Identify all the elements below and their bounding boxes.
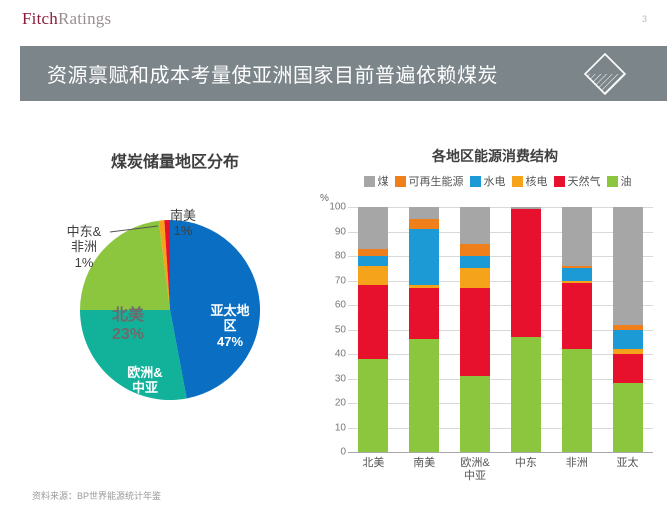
bar-segment — [358, 285, 388, 359]
bar-slot — [602, 207, 653, 452]
legend-swatch-icon — [512, 176, 523, 187]
slide: FitchRatings 3 资源禀赋和成本考量使亚洲国家目前普遍依赖煤炭 煤炭… — [0, 0, 667, 513]
bar-slot — [551, 207, 602, 452]
x-tick-label: 南美 — [399, 457, 450, 482]
top-bar: FitchRatings 3 — [0, 0, 667, 40]
pie-label-ap-pct: 47% — [217, 334, 243, 349]
legend-label: 水电 — [484, 173, 506, 189]
bar-chart-title: 各地区能源消费结构 — [380, 146, 610, 166]
bar-segment — [613, 354, 643, 383]
y-tick-label: 0 — [322, 447, 346, 458]
bar-segment — [409, 229, 439, 285]
y-tick-label: 10 — [322, 422, 346, 433]
pie-label-north-america-name: 北美 — [112, 307, 144, 324]
y-tick-label: 20 — [322, 398, 346, 409]
legend-swatch-icon — [554, 176, 565, 187]
y-tick-label: 60 — [322, 300, 346, 311]
diamond-hatched-icon — [583, 52, 627, 96]
pie-label-me-pct: 1% — [75, 255, 94, 270]
x-tick-label: 欧洲&中亚 — [450, 457, 501, 482]
stacked-bar[interactable] — [511, 207, 541, 452]
legend-item-3[interactable]: 核电 — [512, 173, 548, 189]
bar-segment — [409, 339, 439, 452]
legend-item-4[interactable]: 天然气 — [554, 173, 601, 189]
legend-swatch-icon — [364, 176, 375, 187]
bar-chart-legend: 煤可再生能源水电核电天然气油 — [328, 173, 667, 189]
pie-label-south-america-pct: 1% — [174, 223, 193, 238]
bar-slot — [500, 207, 551, 452]
stacked-bar[interactable] — [409, 207, 439, 452]
bar-segment — [511, 209, 541, 336]
bar-segment — [460, 376, 490, 452]
bar-slot — [348, 207, 399, 452]
bar-segment — [460, 207, 490, 244]
bar-slot — [399, 207, 450, 452]
bar-segment — [460, 268, 490, 288]
stacked-bar[interactable] — [562, 207, 592, 452]
pie-label-south-america-name: 南美 — [170, 208, 196, 223]
pie-label-eca-pct: 28% — [132, 396, 158, 411]
x-tick-label: 亚太 — [602, 457, 653, 482]
pie-label-me-line2: 非洲 — [71, 239, 97, 254]
y-tick-label: 90 — [322, 226, 346, 237]
source-note: 资料来源：BP世界能源统计年鉴 — [32, 489, 161, 502]
bar-segment — [358, 256, 388, 266]
bar-segment — [409, 219, 439, 229]
legend-swatch-icon — [395, 176, 406, 187]
bar-slot — [450, 207, 501, 452]
legend-item-1[interactable]: 可再生能源 — [395, 173, 464, 189]
y-axis: 0102030405060708090100 — [322, 207, 346, 452]
page-number: 3 — [642, 14, 647, 24]
logo-fitch: Fitch — [22, 9, 58, 28]
bar-segment — [613, 383, 643, 452]
pie-label-me-line1: 中东& — [67, 224, 102, 239]
legend-swatch-icon — [607, 176, 618, 187]
x-tick-label: 非洲 — [551, 457, 602, 482]
bar-segment — [409, 288, 439, 339]
x-tick-label: 中东 — [500, 457, 551, 482]
stacked-bar[interactable] — [358, 207, 388, 452]
pie-label-eca-line2: 中亚 — [132, 380, 158, 395]
y-tick-label: 100 — [322, 202, 346, 213]
x-axis-labels: 北美南美欧洲&中亚中东非洲亚太 — [348, 457, 653, 482]
legend-item-0[interactable]: 煤 — [364, 173, 389, 189]
legend-label: 核电 — [526, 173, 548, 189]
x-tick-label: 北美 — [348, 457, 399, 482]
x-axis-line — [348, 452, 653, 453]
pie-label-ap-line2: 区 — [223, 318, 236, 333]
title-band: 资源禀赋和成本考量使亚洲国家目前普遍依赖煤炭 — [20, 46, 667, 101]
bar-segment — [409, 207, 439, 219]
logo-ratings: Ratings — [58, 9, 111, 28]
legend-item-5[interactable]: 油 — [607, 173, 632, 189]
legend-label: 油 — [621, 173, 632, 189]
y-tick-label: 70 — [322, 275, 346, 286]
pie-label-asia-pacific: 亚太地 区 47% — [198, 303, 262, 349]
legend-label: 天然气 — [568, 173, 601, 189]
pie-label-ap-line1: 亚太地 — [210, 303, 249, 318]
legend-label: 煤 — [378, 173, 389, 189]
y-tick-label: 30 — [322, 373, 346, 384]
bar-plot-area: 0102030405060708090100 北美南美欧洲&中亚中东非洲亚太 — [348, 207, 653, 452]
bar-segment — [358, 359, 388, 452]
legend-label: 可再生能源 — [409, 173, 464, 189]
bar-segment — [613, 207, 643, 325]
pie-label-middle-east-africa: 中东& 非洲 1% — [48, 224, 120, 270]
bar-segment — [358, 207, 388, 249]
fitch-ratings-logo: FitchRatings — [22, 9, 111, 29]
bar-segment — [511, 337, 541, 452]
stacked-bar[interactable] — [460, 207, 490, 452]
bar-segment — [562, 349, 592, 452]
pie-chart-title: 煤炭储量地区分布 — [85, 148, 265, 172]
bar-segment — [460, 288, 490, 376]
pie-label-north-america: 北美 23% — [98, 307, 158, 345]
pie-chart: 南美 1% 中东& 非洲 1% 北美 23% 欧洲& 中亚 28% 亚太地 区 … — [20, 185, 320, 475]
bar-segment — [358, 266, 388, 286]
legend-item-2[interactable]: 水电 — [470, 173, 506, 189]
stacked-bar[interactable] — [613, 207, 643, 452]
bar-chart: 煤可再生能源水电核电天然气油 % 0102030405060708090100 … — [320, 165, 667, 495]
bar-segment — [562, 283, 592, 349]
legend-swatch-icon — [470, 176, 481, 187]
y-tick-label: 80 — [322, 251, 346, 262]
bar-segment — [613, 330, 643, 350]
bar-segment — [562, 268, 592, 280]
bar-segment — [460, 244, 490, 256]
bar-segment — [562, 207, 592, 266]
pie-label-south-america: 南美 1% — [148, 208, 218, 239]
bar-segment — [358, 249, 388, 256]
pie-label-eca-line1: 欧洲& — [127, 365, 162, 380]
y-tick-label: 40 — [322, 349, 346, 360]
pie-label-north-america-pct: 23% — [112, 326, 144, 343]
bar-group — [348, 207, 653, 452]
y-tick-label: 50 — [322, 324, 346, 335]
page-title: 资源禀赋和成本考量使亚洲国家目前普遍依赖煤炭 — [47, 46, 498, 101]
bar-segment — [460, 256, 490, 268]
pie-label-europe-central-asia: 欧洲& 中亚 28% — [108, 365, 182, 411]
